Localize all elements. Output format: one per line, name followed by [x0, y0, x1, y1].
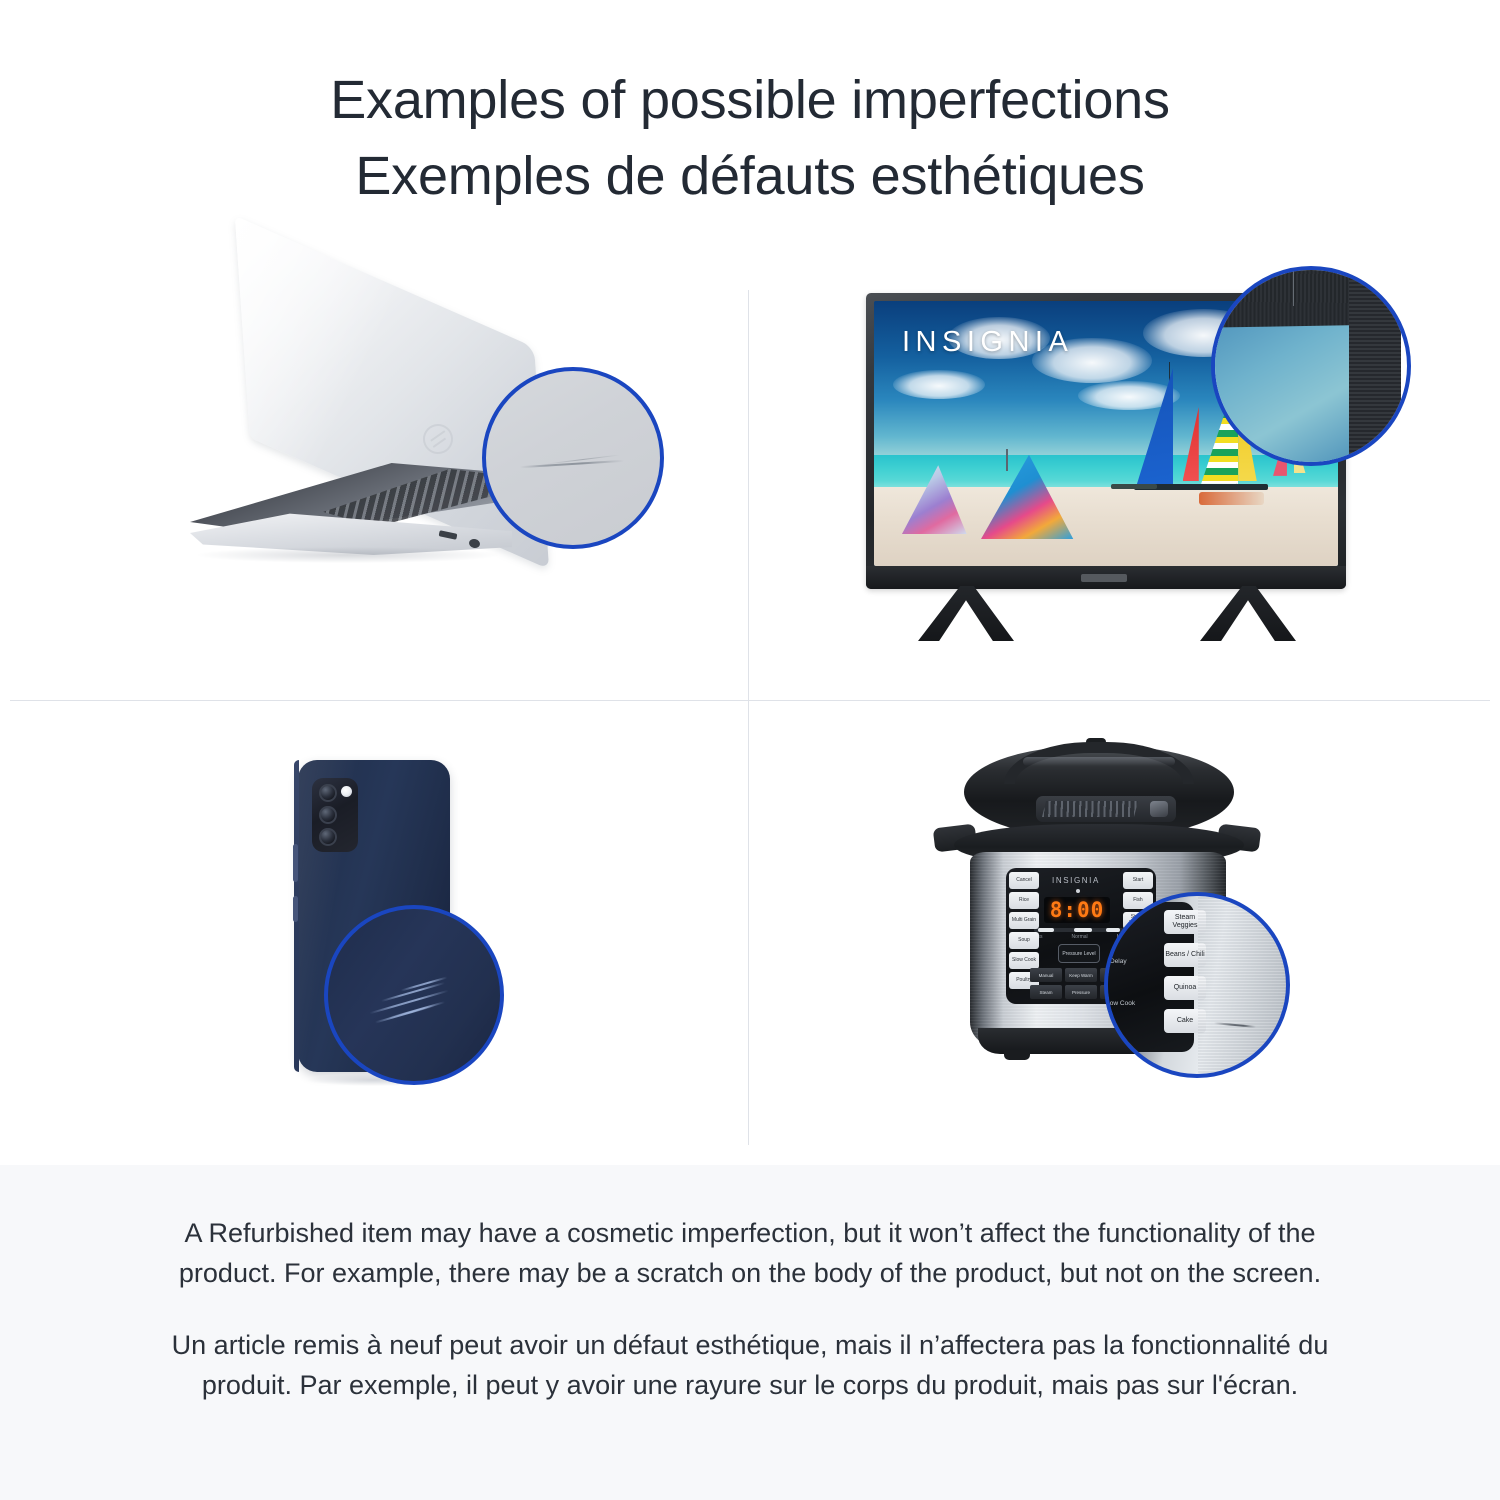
refurbished-imperfections-infographic: Examples of possible imperfections Exemp…: [0, 0, 1500, 1500]
camera-module: [312, 778, 358, 852]
stainless-grain: [1198, 896, 1290, 1078]
tv-leg-right: [1200, 586, 1296, 641]
cooker-key[interactable]: Rice: [1009, 892, 1039, 909]
tv-leg-left: [918, 586, 1014, 641]
cooker-key[interactable]: Manual: [1030, 968, 1062, 982]
cooker-key[interactable]: Pressure: [1065, 985, 1097, 999]
beached-hull: [1111, 484, 1157, 489]
example-cell-pressure-cooker: INSIGNIA 8:00 Less Normal More: [748, 700, 1500, 1165]
camera-lens-icon: [319, 784, 337, 802]
magnified-screen-area: [1211, 322, 1367, 466]
laptop-illustration: [190, 285, 580, 575]
flash-icon: [341, 786, 352, 797]
lid-carry-handle: [1004, 742, 1194, 784]
tv-brand-badge: [1081, 574, 1127, 582]
laptop-shadow: [198, 547, 498, 563]
display-time: 8:00: [1050, 898, 1105, 922]
camera-lens-icon: [319, 828, 337, 846]
examples-grid: INSIGNIA: [0, 265, 1500, 1165]
bar-segment: [1038, 928, 1054, 932]
mast: [1006, 449, 1008, 470]
header: Examples of possible imperfections Exemp…: [0, 0, 1500, 265]
cooker-key[interactable]: Keep Warm: [1065, 968, 1097, 982]
lid-ridges: [1042, 801, 1138, 817]
page-title-fr: Exemples de défauts esthétiques: [0, 138, 1500, 214]
cooker-key[interactable]: Steam: [1030, 985, 1062, 999]
disclaimer-en: A Refurbished item may have a cosmetic i…: [170, 1213, 1330, 1293]
lid-vent-panel: [1036, 796, 1176, 822]
phone-illustration: [278, 760, 478, 1090]
cooker-key[interactable]: Multi Grain: [1009, 912, 1039, 929]
cooker-foot: [1004, 1050, 1030, 1060]
beached-hull: [1199, 492, 1264, 505]
magnifier-phone-scratches: [324, 905, 504, 1085]
cooker-key[interactable]: Soup: [1009, 932, 1039, 949]
example-cell-laptop: [0, 265, 748, 700]
cooker-key[interactable]: Start: [1123, 872, 1153, 889]
example-cell-phone: [0, 700, 748, 1165]
bar-label-normal: Normal: [1072, 934, 1088, 940]
magnified-label-slow-cook: Slow Cook: [1104, 1000, 1135, 1008]
magnifier-laptop-scratch: [482, 367, 664, 549]
magnified-label-delay: Delay: [1110, 958, 1127, 966]
tv-illustration: INSIGNIA: [866, 293, 1356, 648]
camera-lens-icon: [319, 806, 337, 824]
bezel-seam-imperfection: [1293, 266, 1294, 306]
disclaimer-fr: Un article remis à neuf peut avoir un dé…: [170, 1325, 1330, 1405]
magnified-bezel-right: [1349, 266, 1401, 466]
power-button: [293, 896, 298, 922]
status-indicator: [1076, 889, 1080, 893]
volume-button: [293, 844, 298, 882]
cloud: [893, 370, 986, 399]
pressure-cooker-illustration: INSIGNIA 8:00 Less Normal More: [948, 740, 1278, 1080]
laptop-base: [190, 463, 510, 559]
led-display: 8:00: [1044, 897, 1110, 923]
cooker-brand-label: INSIGNIA: [1052, 876, 1100, 885]
example-cell-tv: INSIGNIA: [748, 265, 1500, 700]
lid-knob-icon: [1150, 801, 1168, 817]
page-title-en: Examples of possible imperfections: [0, 62, 1500, 138]
magnifier-tv-bezel-scuff: [1211, 266, 1411, 466]
bar-segment: [1074, 928, 1092, 932]
insignia-screen-logo: INSIGNIA: [902, 326, 1073, 359]
hull: [1190, 484, 1269, 491]
cooker-key[interactable]: Cancel: [1009, 872, 1039, 889]
cooker-key[interactable]: Slow Cook: [1009, 952, 1039, 969]
tv-bottom-bezel: [866, 566, 1346, 589]
pressure-level-button[interactable]: Pressure Level: [1058, 944, 1100, 963]
magnifier-cooker-scratch: Steam Veggies Beans / Chili Quinoa Cake …: [1104, 892, 1290, 1078]
footer-disclaimer: A Refurbished item may have a cosmetic i…: [0, 1165, 1500, 1500]
